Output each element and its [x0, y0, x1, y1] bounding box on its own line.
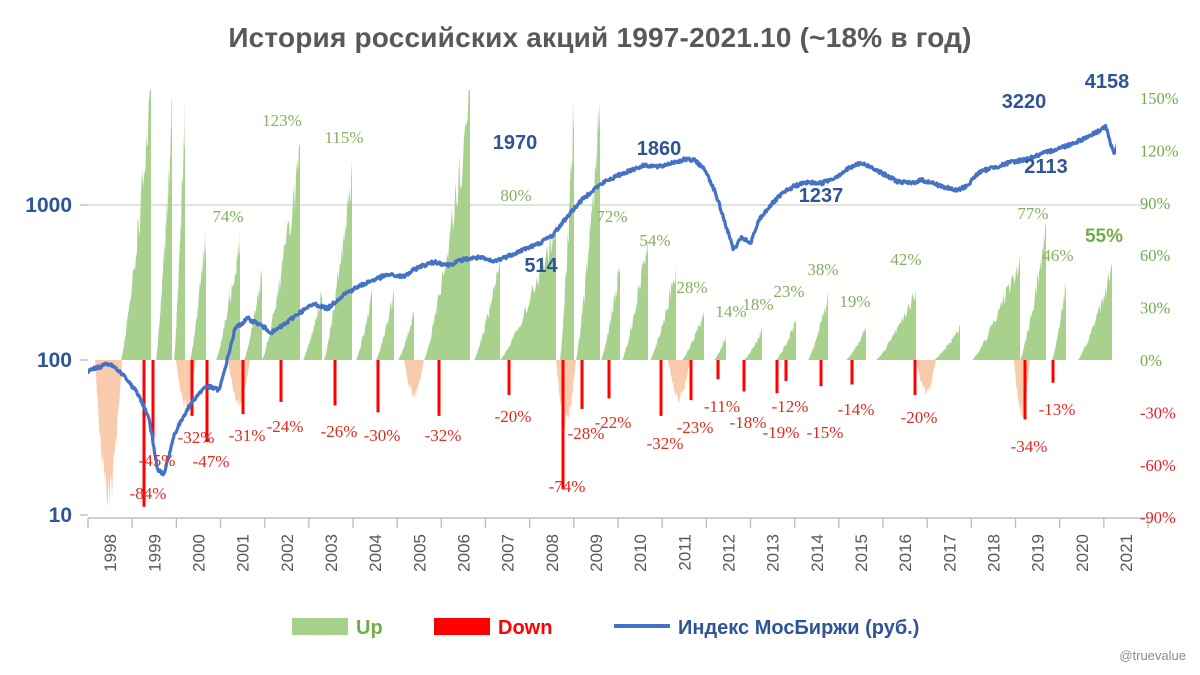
- chart-svg: 100010010 150%120%90%60%30%0%-30%-60%-90…: [0, 0, 1200, 675]
- down-label-minus12%: -12%: [772, 397, 809, 416]
- up-percent-label-final: 55%: [1085, 226, 1123, 247]
- x-axis-label-2020: 2020: [1073, 534, 1092, 572]
- x-axis-label-2015: 2015: [852, 534, 871, 572]
- up-label-23%: 23%: [773, 282, 804, 301]
- right-axis-tick-60%: 60%: [1140, 246, 1171, 265]
- down-label-minus45%: -45%: [139, 451, 176, 470]
- up-label-42%: 42%: [890, 250, 921, 269]
- index-label-1237: 1237: [799, 185, 844, 207]
- up-label-55%: 55%: [1085, 226, 1123, 247]
- down-label-minus32%: -32%: [425, 426, 462, 445]
- up-label-77%: 77%: [1017, 204, 1048, 223]
- right-axis-tick-120%: 120%: [1140, 141, 1179, 160]
- right-axis-tick-90%: 90%: [1140, 194, 1171, 213]
- x-axis-label-2011: 2011: [675, 534, 694, 571]
- x-axis-label-2013: 2013: [764, 534, 783, 572]
- x-axis-label-1998: 1998: [101, 534, 120, 572]
- x-axis-tick-labels: 1998199920002001200220032004200520062007…: [101, 534, 1136, 572]
- left-axis-tick-10: 10: [49, 504, 72, 527]
- legend-item-Индекс МосБиржи (руб.)[interactable]: Индекс МосБиржи (руб.): [614, 617, 919, 639]
- x-axis-label-2007: 2007: [499, 534, 518, 572]
- x-axis-label-2005: 2005: [410, 534, 429, 572]
- down-label-minus20%: -20%: [901, 408, 938, 427]
- right-axis-tick--30%: -30%: [1140, 403, 1176, 422]
- up-label-46%: 46%: [1042, 246, 1073, 265]
- x-axis-label-2012: 2012: [719, 534, 738, 572]
- down-label-minus47%: -47%: [193, 452, 230, 471]
- x-axis-label-2000: 2000: [189, 534, 208, 572]
- left-axis-tick-100: 100: [37, 349, 72, 372]
- down-label-minus18%: -18%: [730, 413, 767, 432]
- down-label-minus32%: -32%: [178, 428, 215, 447]
- left-axis-labels: 100010010: [25, 194, 88, 527]
- down-label-minus23%: -23%: [677, 418, 714, 437]
- x-axis-ticks: [88, 518, 1148, 528]
- up-label-123%: 123%: [262, 111, 302, 130]
- down-label-minus13%: -13%: [1039, 400, 1076, 419]
- down-label-minus74%: -74%: [549, 477, 586, 496]
- legend-label: Индекс МосБиржи (руб.): [678, 617, 919, 639]
- legend-label: Down: [498, 617, 552, 639]
- legend-label: Up: [356, 617, 383, 639]
- up-label-74%: 74%: [212, 207, 243, 226]
- x-axis-label-2008: 2008: [543, 534, 562, 572]
- x-axis-label-2010: 2010: [631, 534, 650, 572]
- x-axis-label-2003: 2003: [322, 534, 341, 572]
- index-label-3220: 3220: [1002, 91, 1047, 113]
- legend-swatch: [292, 618, 348, 635]
- x-axis-label-2018: 2018: [984, 534, 1003, 572]
- right-axis-tick-150%: 150%: [1140, 89, 1179, 108]
- right-axis-labels: 150%120%90%60%30%0%-30%-60%-90%: [1140, 89, 1179, 527]
- index-label-1970: 1970: [493, 132, 538, 154]
- down-label-minus24%: -24%: [267, 417, 304, 436]
- up-label-38%: 38%: [807, 260, 838, 279]
- x-axis-label-2019: 2019: [1029, 534, 1048, 572]
- down-label-minus15%: -15%: [807, 423, 844, 442]
- plot-background: [88, 90, 1116, 518]
- legend-item-Down[interactable]: Down: [434, 617, 552, 639]
- down-label-minus20%: -20%: [495, 407, 532, 426]
- x-axis-label-2001: 2001: [234, 534, 253, 572]
- up-label-54%: 54%: [639, 231, 670, 250]
- up-label-18%: 18%: [742, 295, 773, 314]
- index-label-2113: 2113: [1024, 156, 1067, 178]
- down-label-minus26%: -26%: [321, 422, 358, 441]
- x-axis-label-2009: 2009: [587, 534, 606, 572]
- up-label-72%: 72%: [596, 207, 627, 226]
- up-label-115%: 115%: [324, 128, 363, 147]
- legend-swatch: [434, 618, 490, 635]
- x-axis-label-2002: 2002: [278, 534, 297, 572]
- up-label-80%: 80%: [500, 186, 531, 205]
- right-axis-tick--60%: -60%: [1140, 456, 1176, 475]
- up-label-28%: 28%: [676, 278, 707, 297]
- watermark: @truevalue: [1119, 648, 1186, 663]
- chart-legend: UpDownИндекс МосБиржи (руб.): [292, 617, 919, 639]
- index-label-514: 514: [524, 255, 558, 277]
- down-label-minus22%: -22%: [595, 413, 632, 432]
- x-axis-label-2016: 2016: [896, 534, 915, 572]
- down-label-minus14%: -14%: [838, 400, 875, 419]
- x-axis-label-2017: 2017: [940, 534, 959, 572]
- down-label-minus84%: -84%: [130, 484, 167, 503]
- x-axis-label-2006: 2006: [454, 534, 473, 572]
- up-label-19%: 19%: [839, 292, 870, 311]
- index-label-1860: 1860: [637, 138, 682, 160]
- right-axis-tick-0%: 0%: [1140, 351, 1162, 370]
- down-label-minus34%: -34%: [1011, 437, 1048, 456]
- x-axis-label-1999: 1999: [145, 534, 164, 572]
- x-axis-label-2021: 2021: [1117, 534, 1136, 572]
- down-label-minus30%: -30%: [364, 426, 401, 445]
- legend-item-Up[interactable]: Up: [292, 617, 383, 639]
- down-label-minus31%: -31%: [229, 426, 266, 445]
- index-label-4158: 4158: [1085, 71, 1130, 93]
- right-axis-tick-30%: 30%: [1140, 299, 1171, 318]
- left-axis-tick-1000: 1000: [25, 194, 72, 217]
- down-label-minus19%: -19%: [763, 423, 800, 442]
- x-axis-label-2004: 2004: [366, 534, 385, 572]
- x-axis-label-2014: 2014: [808, 534, 827, 572]
- chart-container: История российских акций 1997-2021.10 (~…: [0, 0, 1200, 675]
- right-axis-tick--90%: -90%: [1140, 508, 1176, 527]
